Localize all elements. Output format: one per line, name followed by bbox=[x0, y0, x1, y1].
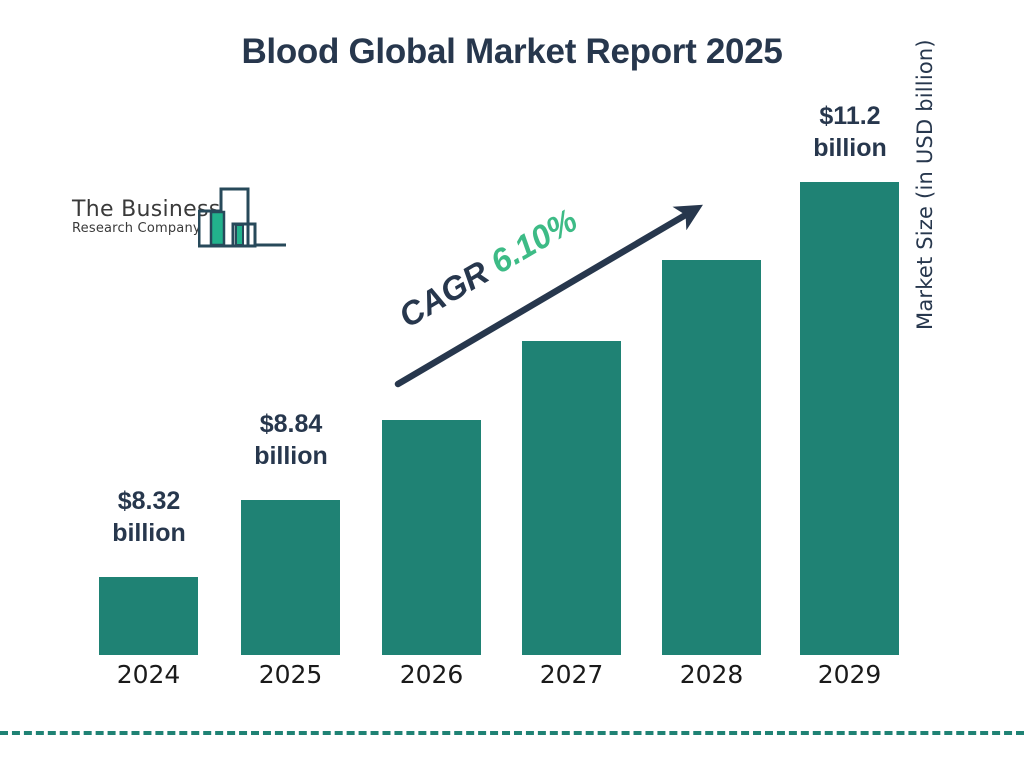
bar-value-2024: $8.32 billion bbox=[79, 485, 219, 549]
bar-value-2025: $8.84 billion bbox=[221, 408, 361, 472]
x-label-2029: 2029 bbox=[800, 660, 899, 689]
x-label-2025: 2025 bbox=[241, 660, 340, 689]
y-axis-title: Market Size (in USD billion) bbox=[913, 0, 937, 330]
bar-value-2029-amount: $11.2 bbox=[780, 100, 920, 132]
cagr-annotation: CAGR 6.10% bbox=[392, 201, 584, 335]
bar-2025[interactable] bbox=[241, 500, 340, 655]
bar-value-2029: $11.2 billion bbox=[780, 100, 920, 164]
bar-2028[interactable] bbox=[662, 260, 761, 655]
x-label-2027: 2027 bbox=[522, 660, 621, 689]
x-label-2024: 2024 bbox=[99, 660, 198, 689]
bar-chart-plot: $8.32 billion $8.84 billion $11.2 billio… bbox=[0, 0, 1024, 768]
chart-page: Blood Global Market Report 2025 The Busi… bbox=[0, 0, 1024, 768]
x-label-2026: 2026 bbox=[382, 660, 481, 689]
bar-2026[interactable] bbox=[382, 420, 481, 655]
bar-value-2024-amount: $8.32 bbox=[79, 485, 219, 517]
footer-divider bbox=[0, 731, 1024, 735]
cagr-label: CAGR bbox=[392, 253, 495, 334]
bar-2027[interactable] bbox=[522, 341, 621, 655]
x-label-2028: 2028 bbox=[662, 660, 761, 689]
cagr-value: 6.10% bbox=[484, 201, 583, 280]
bar-2029[interactable] bbox=[800, 182, 899, 655]
bar-value-2025-unit: billion bbox=[221, 440, 361, 472]
bar-value-2025-amount: $8.84 bbox=[221, 408, 361, 440]
bar-2024[interactable] bbox=[99, 577, 198, 655]
bar-value-2029-unit: billion bbox=[780, 132, 920, 164]
bar-value-2024-unit: billion bbox=[79, 517, 219, 549]
